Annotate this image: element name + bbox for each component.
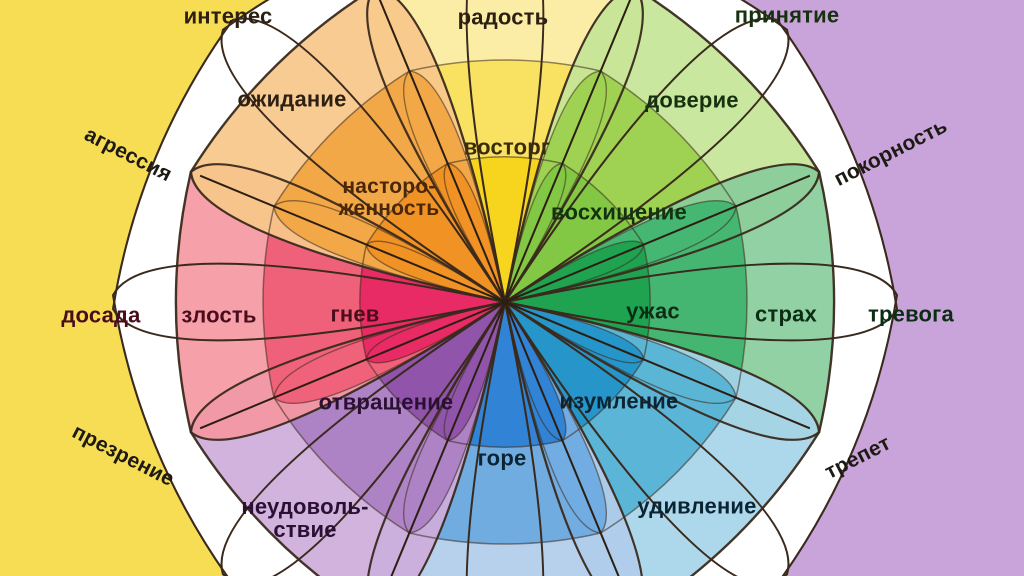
petal-layer: [176, 0, 834, 576]
wheel-svg: [0, 0, 1024, 576]
emotion-wheel-diagram: интересрадостьпринятиеожиданиедовериеагр…: [0, 0, 1024, 576]
